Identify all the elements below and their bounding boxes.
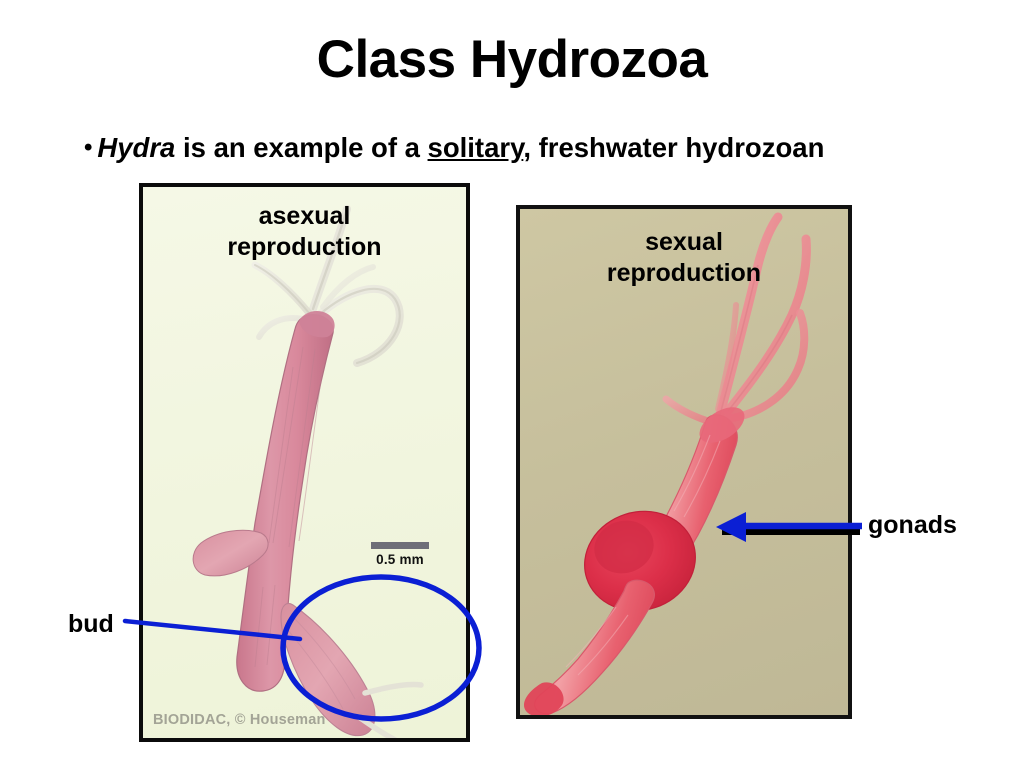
caption-asexual-reproduction: asexual reproduction — [143, 201, 466, 262]
genus-name-hydra: Hydra — [97, 132, 175, 163]
scale-bar-rule — [371, 542, 429, 549]
caption-sexual-reproduction: sexual reproduction — [520, 227, 848, 288]
hydra-specimen-asexual-illustration — [143, 187, 466, 738]
caption-sexual-line2: reproduction — [520, 258, 848, 289]
bullet-point-text: •Hydra is an example of a solitary, fres… — [84, 131, 1024, 164]
figure-panel-sexual-reproduction: sexual reproduction — [516, 205, 852, 719]
annotation-label-bud[interactable]: bud — [68, 610, 114, 639]
bullet-marker-icon: • — [84, 134, 92, 161]
annotation-label-gonads[interactable]: gonads — [868, 511, 957, 540]
bullet-middle-text: is an example of a — [175, 132, 427, 163]
page-title: Class Hydrozoa — [0, 32, 1024, 88]
scale-bar: 0.5 mm — [371, 542, 429, 567]
caption-sexual-line1: sexual — [520, 227, 848, 258]
caption-asexual-line1: asexual — [143, 201, 466, 232]
watermark-credit: BIODIDAC, © Houseman — [153, 712, 326, 728]
bullet-tail-text: , freshwater hydrozoan — [523, 132, 824, 163]
figure-panel-asexual-reproduction: asexual reproduction 0.5 mm BIODIDAC, © … — [139, 183, 470, 742]
scale-bar-label: 0.5 mm — [371, 552, 429, 567]
emphasis-solitary: solitary — [428, 132, 524, 163]
caption-asexual-line2: reproduction — [143, 232, 466, 263]
